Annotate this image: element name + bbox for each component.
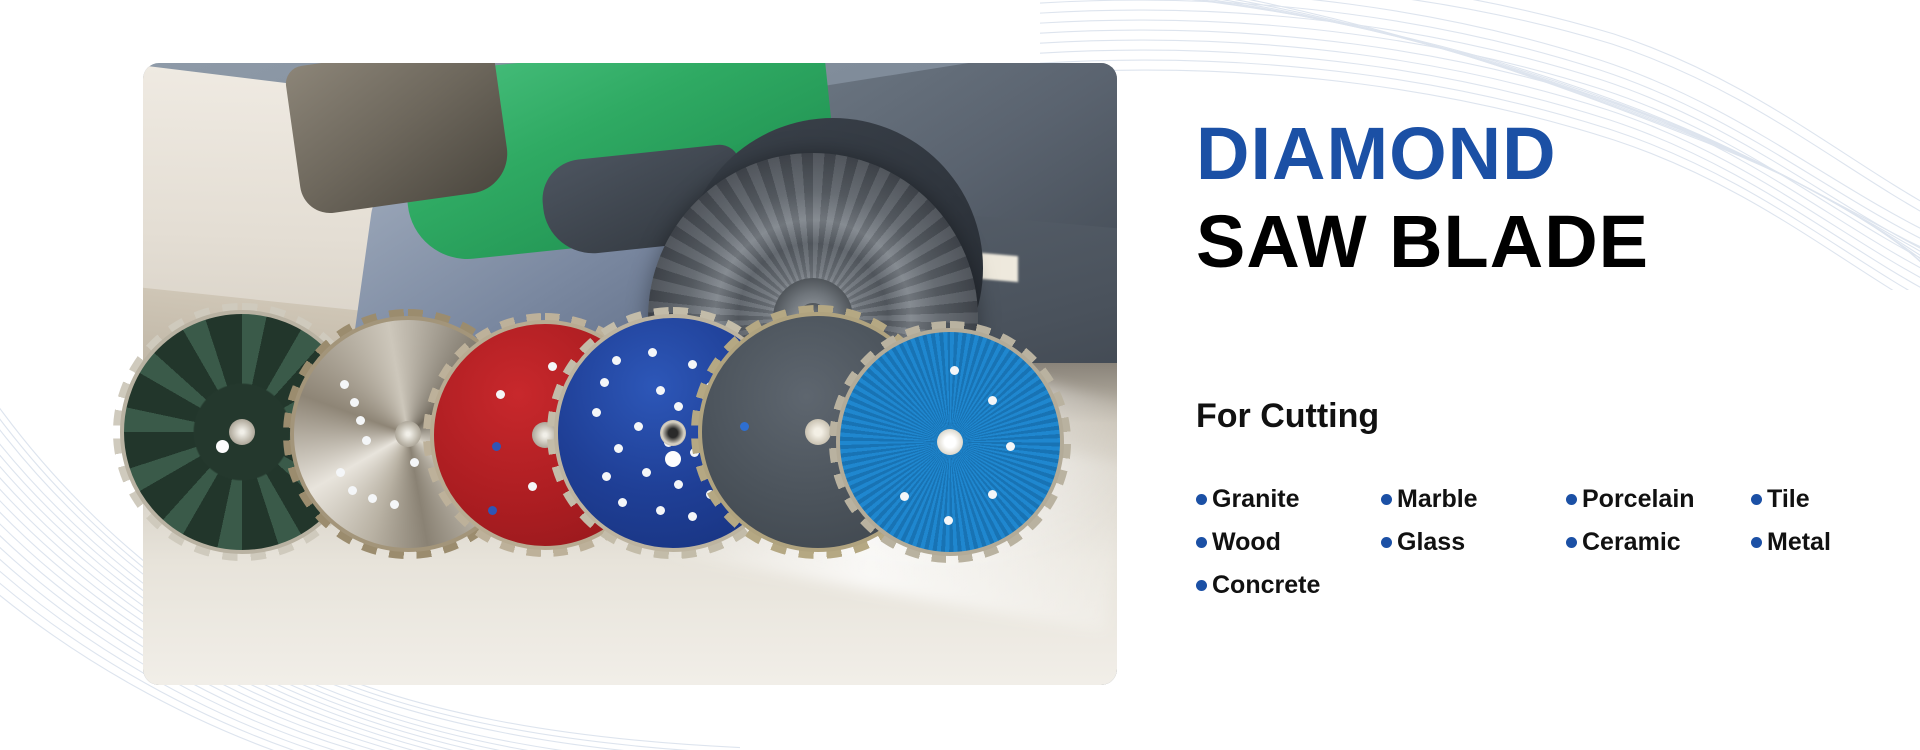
materials-row: Wood Glass Ceramic Metal — [1196, 521, 1896, 564]
bullet-dot-icon — [1566, 494, 1577, 505]
banner-text-column: DIAMOND SAW BLADE For Cutting Granite Ma… — [1196, 0, 1896, 750]
materials-row: Concrete — [1196, 564, 1896, 607]
material-label: Wood — [1212, 528, 1281, 557]
material-item-glass: Glass — [1381, 528, 1566, 557]
material-item-tile: Tile — [1751, 485, 1896, 514]
bullet-dot-icon — [1196, 494, 1207, 505]
material-label: Glass — [1397, 528, 1465, 557]
materials-list: Granite Marble Porcelain Tile — [1196, 478, 1896, 607]
bullet-dot-icon — [1381, 537, 1392, 548]
bullet-dot-icon — [1751, 537, 1762, 548]
material-item-granite: Granite — [1196, 485, 1381, 514]
materials-row: Granite Marble Porcelain Tile — [1196, 478, 1896, 521]
bullet-dot-icon — [1196, 537, 1207, 548]
bullet-dot-icon — [1751, 494, 1762, 505]
material-label: Granite — [1212, 485, 1300, 514]
material-item-metal: Metal — [1751, 528, 1896, 557]
material-item-marble: Marble — [1381, 485, 1566, 514]
hero-photo-card — [143, 63, 1117, 685]
bullet-dot-icon — [1381, 494, 1392, 505]
material-label: Concrete — [1212, 571, 1320, 600]
material-item-porcelain: Porcelain — [1566, 485, 1751, 514]
bullet-dot-icon — [1566, 537, 1577, 548]
hero-photo-image — [143, 63, 1117, 685]
material-label: Marble — [1397, 485, 1478, 514]
subtitle-for-cutting: For Cutting — [1196, 397, 1379, 436]
product-banner: DIAMOND SAW BLADE For Cutting Granite Ma… — [0, 0, 1920, 750]
material-item-wood: Wood — [1196, 528, 1381, 557]
material-label: Ceramic — [1582, 528, 1681, 557]
bullet-dot-icon — [1196, 580, 1207, 591]
headline-saw-blade: SAW BLADE — [1196, 205, 1649, 279]
material-label: Porcelain — [1582, 485, 1695, 514]
headline-diamond: DIAMOND — [1196, 117, 1557, 191]
material-label: Metal — [1767, 528, 1831, 557]
material-label: Tile — [1767, 485, 1810, 514]
material-item-concrete: Concrete — [1196, 571, 1381, 600]
material-item-ceramic: Ceramic — [1566, 528, 1751, 557]
